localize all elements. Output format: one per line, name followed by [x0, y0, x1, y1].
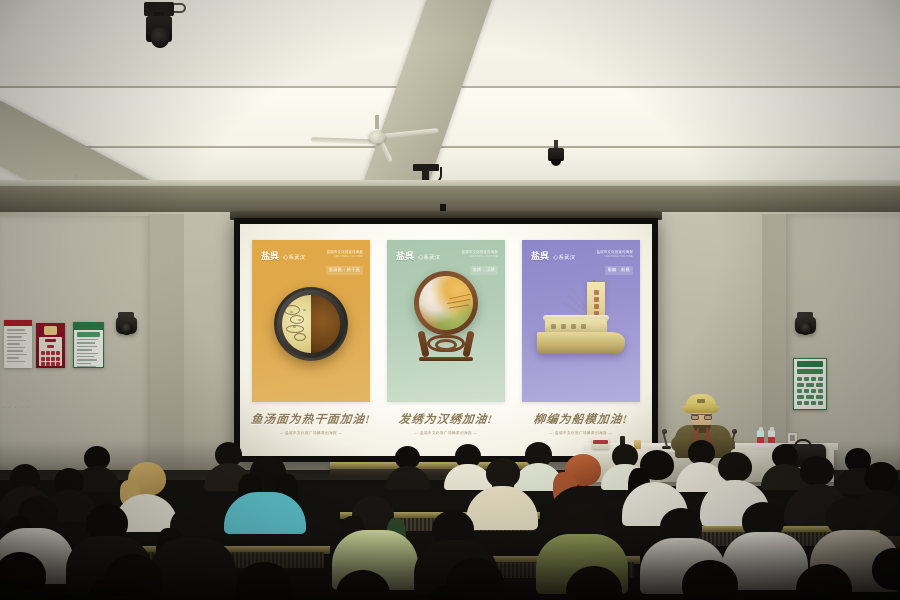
split-noodle-bowl-icon [274, 287, 348, 361]
poster-1-badge: 鱼汤面 · 热干面 [326, 266, 363, 275]
audience-body [466, 486, 538, 530]
poster-2-logo-sub: 心系武汉 [418, 254, 440, 261]
poster-3-logo-sub: 心系武汉 [553, 254, 575, 261]
poster-1-logo-mark: 盐呉 [261, 249, 279, 262]
poster-3-artwork: 盐呉 心系武汉 盐城市文化宫宣传海报 YANCHENG CULTURE 柳编 ·… [522, 240, 640, 402]
poster-1-logo: 盐呉 心系武汉 [261, 249, 305, 262]
wall-right-column [762, 214, 788, 470]
poster-3-logo: 盐呉 心系武汉 [531, 249, 575, 262]
embroidery-hoop-icon [414, 271, 478, 361]
eyeglasses-icon [691, 414, 712, 419]
sailing-junk-icon [531, 274, 631, 374]
poster-3: 盐呉 心系武汉 盐城市文化宫宣传海报 YANCHENG CULTURE 柳编 ·… [522, 240, 640, 436]
audience-body [0, 590, 76, 600]
lecture-hall-photo: · · · · · 盐呉 心系武汉 [0, 0, 900, 600]
poster-3-meta: 盐城市文化宫宣传海报 YANCHENG CULTURE 柳编 · 船模 [597, 250, 633, 276]
poster-1-meta: 盐城市文化宫宣传海报 YANCHENG CULTURE 鱼汤面 · 热干面 [326, 250, 363, 276]
ceiling-fan-center [312, 126, 442, 148]
wall-right-panel [786, 214, 900, 470]
poster-2-logo-mark: 盐呉 [396, 249, 414, 262]
poster-2-caption: 发绣为汉绣加油! — 盐城市文化馆广场舞原创海报 — [378, 411, 514, 436]
audience-body [150, 538, 236, 594]
poster-1-caption: 鱼汤面为热干面加油! — 盐城市文化馆广场舞原创海报 — [243, 411, 379, 436]
poster-3-caption: 柳编为船模加油! — 盐城市文化馆广场舞原创海报 — [513, 411, 649, 436]
notice-red-honor-roll [36, 323, 65, 368]
notice-green-schedule [793, 358, 827, 410]
wall-scuff-marks: · · · · · [2, 404, 30, 411]
poster-1-caption-text: 鱼汤面为热干面加油! [242, 411, 380, 427]
poster-campaign-slide: 盐呉 心系武汉 盐城市文化宫宣传海报 YANCHENG CULTURE 鱼汤面 … [240, 224, 652, 456]
projection-screen: 盐呉 心系武汉 盐城市文化宫宣传海报 YANCHENG CULTURE 鱼汤面 … [240, 224, 652, 456]
cap-logo [697, 399, 705, 403]
poster-2-caption-sub: — 盐城市文化馆广场舞原创海报 — [378, 431, 514, 436]
poster-3-caption-sub: — 盐城市文化馆广场舞原创海报 — [513, 431, 649, 436]
ceiling-soffit [0, 186, 900, 214]
audience-head [864, 462, 898, 492]
wall-left-column [148, 214, 184, 470]
audience-head [486, 458, 520, 488]
poster-1-meta-line2: YANCHENG CULTURE [326, 256, 363, 258]
poster-1-meta-line1: 盐城市文化宫宣传海报 [326, 250, 363, 255]
poster-1-logo-sub: 心系武汉 [283, 254, 305, 261]
poster-2-artwork: 盐呉 心系武汉 盐城市文化宫宣传海报 YANCHENG CULTURE 发绣 ·… [387, 240, 505, 402]
poster-3-logo-mark: 盐呉 [531, 249, 549, 262]
poster-1-caption-sub: — 盐城市文化馆广场舞原创海报 — [243, 431, 379, 436]
poster-2: 盐呉 心系武汉 盐城市文化宫宣传海报 YANCHENG CULTURE 发绣 ·… [387, 240, 505, 436]
poster-3-meta-line1: 盐城市文化宫宣传海报 [597, 250, 633, 255]
poster-1-artwork: 盐呉 心系武汉 盐城市文化宫宣传海报 YANCHENG CULTURE 鱼汤面 … [252, 240, 370, 402]
poster-2-meta-line1: 盐城市文化宫宣传海报 [462, 250, 498, 255]
poster-1: 盐呉 心系武汉 盐城市文化宫宣传海报 YANCHENG CULTURE 鱼汤面 … [252, 240, 370, 436]
cap-brim [682, 406, 720, 413]
poster-3-caption-text: 柳编为船模加油! [512, 411, 650, 427]
notice-green-rules [73, 322, 104, 368]
student-audience [0, 440, 900, 600]
poster-2-meta-line2: YANCHENG CULTURE [462, 256, 498, 258]
poster-2-logo: 盐呉 心系武汉 [396, 249, 440, 262]
audience-head [800, 456, 834, 486]
poster-2-caption-text: 发绣为汉绣加油! [377, 411, 515, 427]
audience-head [718, 452, 752, 482]
poster-3-meta-line2: YANCHENG CULTURE [597, 256, 633, 258]
notice-white [4, 320, 32, 368]
